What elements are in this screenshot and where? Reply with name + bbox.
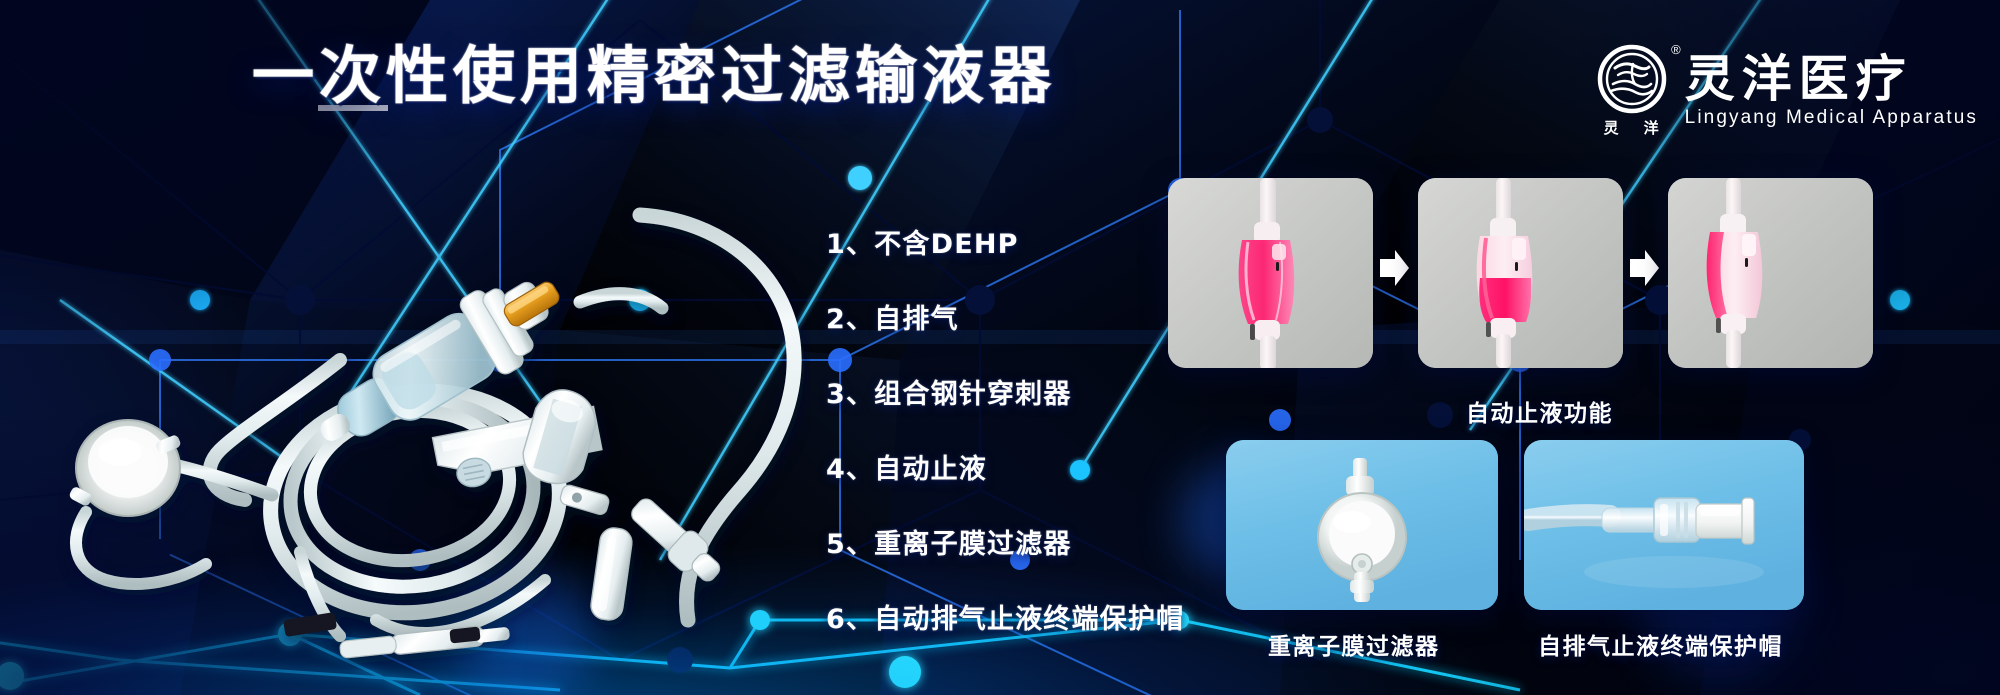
- caption-filter: 重离子膜过滤器: [1268, 627, 1440, 661]
- logo-char-ling: 灵: [1604, 117, 1620, 138]
- auto-stop-stage-1-panel: [1168, 178, 1373, 368]
- promotional-banner: 一次性使用精密过滤输液器 ® 灵 洋 灵洋医: [0, 0, 2000, 695]
- logo-char-yang: 洋: [1644, 117, 1660, 138]
- filter-panel: [1226, 440, 1498, 610]
- logo-emblem-icon: ®: [1597, 44, 1667, 114]
- feature-item-5: 5、重离子膜过滤器: [826, 522, 1184, 561]
- registered-trademark-icon: ®: [1671, 42, 1681, 57]
- brand-logo: ® 灵 洋 灵洋医疗 Lingyang Medical Apparatus: [1597, 44, 1978, 138]
- logo-mark-caption: 灵 洋: [1604, 117, 1660, 138]
- feature-item-2: 2、自排气: [826, 297, 1184, 336]
- caption-terminal-cap: 自排气止液终端保护帽: [1538, 627, 1783, 661]
- page-title: 一次性使用精密过滤输液器: [252, 44, 1056, 107]
- feature-item-6: 6、自动排气止液终端保护帽: [826, 597, 1184, 636]
- product-image-infusion-set: [40, 150, 810, 670]
- logo-mark: ® 灵 洋: [1597, 44, 1667, 138]
- company-name-en: Lingyang Medical Apparatus: [1685, 107, 1978, 129]
- auto-stop-stage-2-panel: [1418, 178, 1623, 368]
- auto-stop-stage-3-panel: [1668, 178, 1873, 368]
- feature-list: 1、不含DEHP 2、自排气 3、组合钢针穿刺器 4、自动止液 5、重离子膜过滤…: [826, 222, 1184, 636]
- terminal-cap-panel: [1524, 440, 1804, 610]
- logo-wordmark: 灵洋医疗 Lingyang Medical Apparatus: [1685, 53, 1978, 129]
- banner-title-wrap: 一次性使用精密过滤输液器: [252, 44, 1056, 107]
- caption-auto-stop: 自动止液功能: [1466, 394, 1613, 428]
- company-name-cn: 灵洋医疗: [1685, 53, 1913, 105]
- feature-item-1: 1、不含DEHP: [826, 222, 1184, 261]
- feature-item-3: 3、组合钢针穿刺器: [826, 372, 1184, 411]
- feature-item-4: 4、自动止液: [826, 447, 1184, 486]
